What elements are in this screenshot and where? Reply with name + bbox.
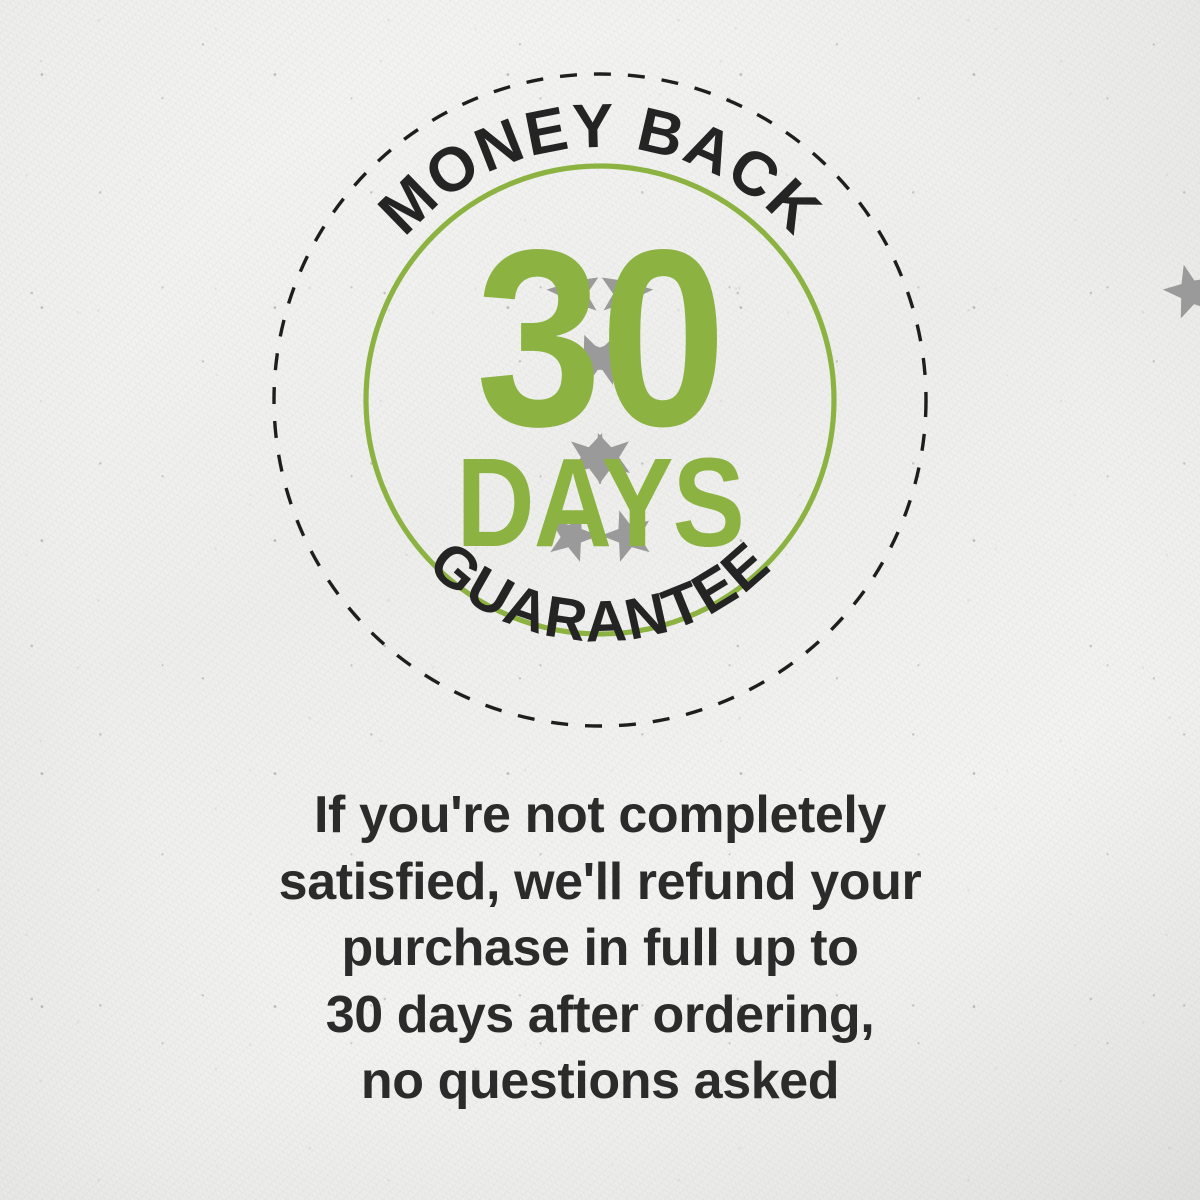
copy-line: purchase in full up to [130, 915, 1070, 982]
guarantee-description: If you're not completely satisfied, we'l… [0, 782, 1200, 1115]
badge-arc-bottom-text: GUARANTEE [417, 529, 782, 655]
star-icon [536, 500, 605, 570]
copy-line: 30 days after ordering, [130, 982, 1070, 1049]
copy-line: no questions asked [130, 1048, 1070, 1115]
copy-line: If you're not completely [130, 782, 1070, 849]
star-icon [595, 500, 664, 570]
star-icon [541, 255, 612, 327]
badge-arc-top-text: MONEY BACK [366, 92, 835, 248]
copy-line: satisfied, we'll refund your [130, 849, 1070, 916]
money-back-guarantee-badge: MONEY BACK GUARANTEE 30 DAYS [270, 70, 930, 730]
star-icon [587, 255, 658, 327]
